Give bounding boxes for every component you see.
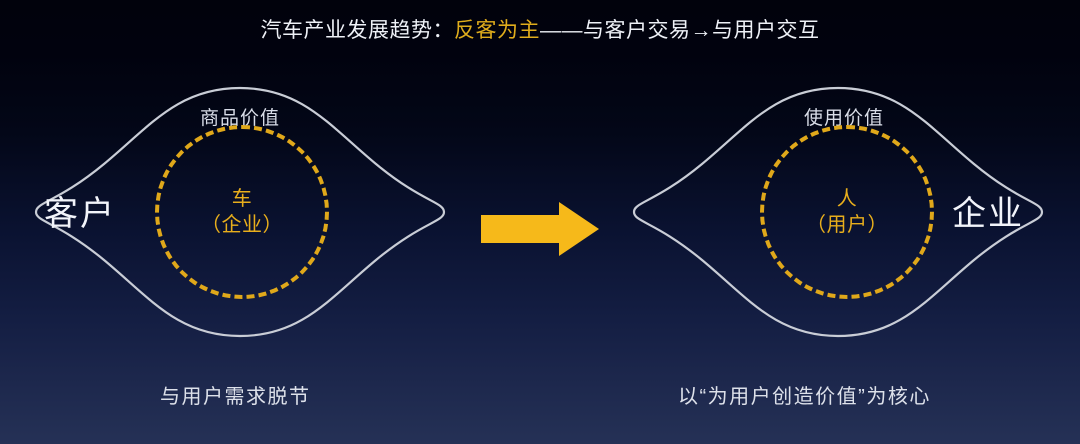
left-caption: 与用户需求脱节: [160, 384, 311, 410]
left-core-line1: 车: [232, 186, 253, 212]
left-side-label-customer: 客户: [44, 194, 116, 234]
right-side-label-enterprise: 企业: [952, 194, 1024, 234]
right-core-line2: （用户）: [806, 212, 888, 238]
title-highlight: 反客为主: [454, 19, 540, 42]
arrow-right-icon: [481, 200, 599, 258]
slide-canvas: 汽车产业发展趋势：反客为主——与客户交易→与用户交互 商品价值 车 （企业） 客…: [0, 0, 1080, 444]
right-caption: 以“为用户创造价值”为核心: [678, 384, 931, 410]
left-core-text: 车 （企业）: [155, 125, 329, 299]
title-prefix: 汽车产业发展趋势：: [261, 19, 455, 42]
title-suffix: ——与客户交易→与用户交互: [540, 19, 820, 42]
right-core-text: 人 （用户）: [760, 125, 934, 299]
left-core-line2: （企业）: [201, 212, 283, 238]
page-title: 汽车产业发展趋势：反客为主——与客户交易→与用户交互: [0, 18, 1080, 44]
right-core-line1: 人: [837, 186, 858, 212]
